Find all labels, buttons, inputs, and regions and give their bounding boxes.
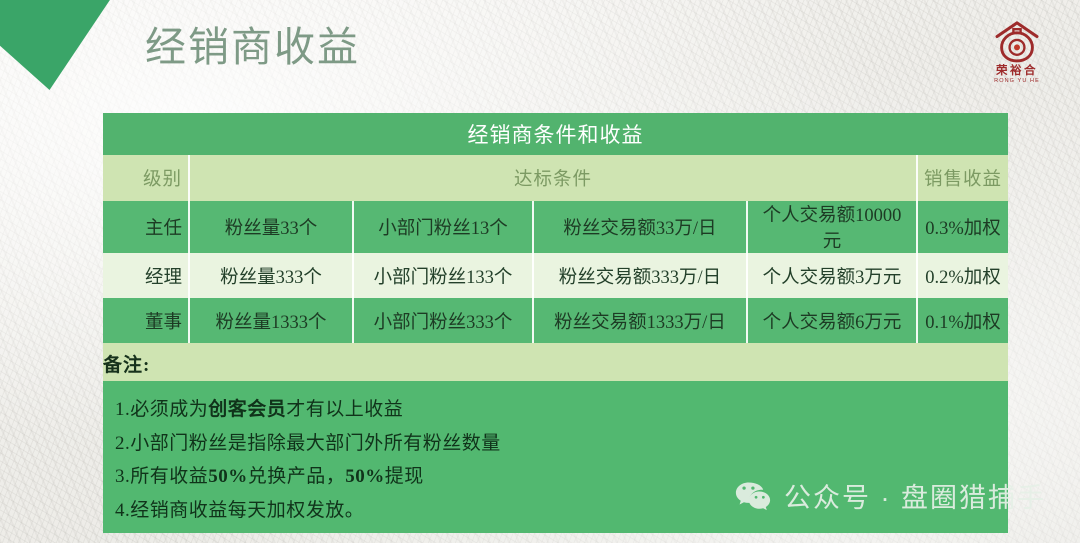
note-1-post: 才有以上收益 [286, 399, 403, 420]
brand-logo: 荣裕合 RONG YU HE [976, 18, 1058, 96]
note-2-num: 2. [115, 433, 130, 454]
cell-fans-turnover: 粉丝交易额333万/日 [532, 253, 746, 298]
note-3-post: 兑换产品， [248, 466, 346, 487]
note-4-text: 经销商收益每天加权发放。 [130, 500, 364, 521]
cell-fans-count: 粉丝量1333个 [188, 298, 352, 343]
cell-personal-turnover: 个人交易额10000元 [746, 201, 916, 253]
table-row: 主任 粉丝量33个 小部门粉丝13个 粉丝交易额33万/日 个人交易额10000… [103, 201, 1008, 253]
table-caption: 经销商条件和收益 [103, 113, 1008, 155]
note-item-2: 2.小部门粉丝是指除最大部门外所有粉丝数量 [115, 427, 1008, 461]
notes-label: 备注: [103, 343, 1008, 383]
cell-sales-gain: 0.1%加权 [916, 298, 1008, 343]
logo-mark-icon [988, 18, 1046, 64]
cell-level: 董事 [103, 298, 188, 343]
slide-canvas: 经销商收益 荣裕合 RONG YU HE 经销商条件和收益 [0, 0, 1080, 543]
cell-level: 经理 [103, 253, 188, 298]
note-1-strong: 创客会员 [208, 399, 286, 420]
col-header-gain: 销售收益 [916, 155, 1008, 201]
note-3-strong: 50% [208, 466, 248, 487]
wechat-icon [735, 481, 771, 511]
table-caption-row: 经销商条件和收益 [103, 113, 1008, 155]
table-row: 经理 粉丝量333个 小部门粉丝133个 粉丝交易额333万/日 个人交易额3万… [103, 253, 1008, 298]
note-3-post2: 提现 [385, 466, 424, 487]
note-item-1: 1.必须成为创客会员才有以上收益 [115, 393, 1008, 427]
wechat-watermark: 公众号 · 盘圈猎捕手 [735, 476, 1046, 515]
col-header-level: 级别 [103, 155, 188, 201]
note-4-num: 4. [115, 500, 130, 521]
logo-name-cn: 荣裕合 [976, 65, 1058, 78]
cell-personal-turnover: 个人交易额6万元 [746, 298, 916, 343]
cell-level: 主任 [103, 201, 188, 253]
cell-fans-count: 粉丝量333个 [188, 253, 352, 298]
cell-sub-dept-fans: 小部门粉丝333个 [352, 298, 532, 343]
table-row: 董事 粉丝量1333个 小部门粉丝333个 粉丝交易额1333万/日 个人交易额… [103, 298, 1008, 343]
logo-name-pinyin: RONG YU HE [976, 78, 1058, 85]
page-title: 经销商收益 [145, 22, 360, 73]
cell-fans-turnover: 粉丝交易额33万/日 [532, 201, 746, 253]
cell-fans-count: 粉丝量33个 [188, 201, 352, 253]
table-subheader-row: 级别 达标条件 销售收益 [103, 155, 1008, 201]
cell-sales-gain: 0.3%加权 [916, 201, 1008, 253]
col-header-conditions: 达标条件 [188, 155, 916, 201]
note-3-pre: 所有收益 [130, 466, 208, 487]
cell-personal-turnover: 个人交易额3万元 [746, 253, 916, 298]
note-3-strong2: 50% [345, 466, 385, 487]
note-1-num: 1. [115, 399, 130, 420]
note-3-num: 3. [115, 466, 130, 487]
watermark-text: 公众号 · 盘圈猎捕手 [784, 476, 1046, 515]
dealer-benefits-table: 经销商条件和收益 级别 达标条件 销售收益 主任 粉丝量33个 小部门粉丝13个… [103, 113, 1008, 383]
notes-label-row: 备注: [103, 343, 1008, 383]
note-1-pre: 必须成为 [130, 399, 208, 420]
cell-sub-dept-fans: 小部门粉丝133个 [352, 253, 532, 298]
corner-chevron-decoration [0, 0, 110, 90]
cell-sub-dept-fans: 小部门粉丝13个 [352, 201, 532, 253]
cell-sales-gain: 0.2%加权 [916, 253, 1008, 298]
note-2-text: 小部门粉丝是指除最大部门外所有粉丝数量 [130, 433, 501, 454]
cell-fans-turnover: 粉丝交易额1333万/日 [532, 298, 746, 343]
